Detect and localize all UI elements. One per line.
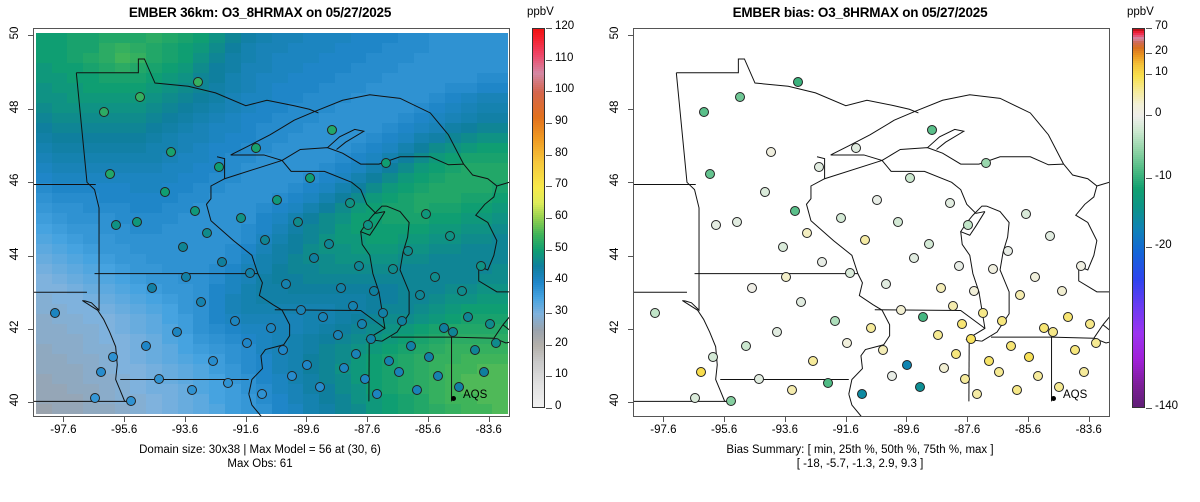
x-axis-tick [906,417,907,422]
x-axis-tick-label: -89.6 [881,424,931,436]
y-axis-tick [628,109,633,110]
aqs-legend-marker-model [451,396,456,401]
station-dot [1063,312,1073,322]
station-dot [1003,246,1013,256]
y-axis-tick-label: 46 [609,165,621,195]
y-axis-tick-label: 42 [609,312,621,342]
station-dot [90,393,100,403]
station-dot [887,371,897,381]
station-dot [384,356,394,366]
colorbar-tick [1146,53,1152,54]
station-dot [257,389,267,399]
station-dot [893,217,903,227]
station-dot [851,143,861,153]
station-dot [345,198,355,208]
x-axis-tick-label: -89.6 [281,424,331,436]
station-dot [845,268,855,278]
station-dot [242,338,252,348]
station-dot [860,235,870,245]
station-dot [936,283,946,293]
map-plot-bias: AQS [633,28,1110,417]
station-dot [957,319,967,329]
station-dot [354,261,364,271]
colorbar-bias-bar [1132,28,1145,408]
station-dot [141,341,151,351]
y-axis-tick-label: 40 [9,385,21,415]
map-plot-model: AQS [33,28,510,417]
station-dot [196,297,206,307]
colorbar-tick-label: 70 [1155,20,1168,32]
y-axis-tick [28,329,33,330]
station-dot [190,206,200,216]
colorbar-tick-label: 0 [1155,107,1161,119]
station-dot [105,169,115,179]
station-dot [366,334,376,344]
x-axis-tick [724,417,725,422]
station-dot [909,253,919,263]
y-axis-tick [628,182,633,183]
colorbar-tick [546,345,552,346]
station-dot [830,316,840,326]
x-axis-tick-label: -87.6 [342,424,392,436]
colorbar-tick [546,408,552,409]
station-dot [1091,338,1101,348]
station-dot [699,107,709,117]
station-dot [236,213,246,223]
x-axis-tick-label: -97.6 [38,424,88,436]
station-dot [690,393,700,403]
station-dot [187,385,197,395]
station-dot [1076,261,1086,271]
y-axis-tick-label: 44 [9,239,21,269]
station-dot [50,308,60,318]
station-dot [403,246,413,256]
colorbar-tick [546,28,552,29]
station-dot [1079,367,1089,377]
station-dot [415,290,425,300]
x-axis-tick [124,417,125,422]
bias-caption-line1: Bias Summary: [ min, 25th %, 50th %, 75t… [600,443,1120,457]
station-dot [793,77,803,87]
colorbar-tick [546,281,552,282]
station-dot [147,283,157,293]
x-axis-tick [367,417,368,422]
station-dot [287,371,297,381]
station-dot [132,217,142,227]
station-dot [448,327,458,337]
station-dot [1030,272,1040,282]
station-dot [902,360,912,370]
colorbar-tick [546,186,552,187]
station-dot [1024,352,1034,362]
x-axis-tick [663,417,664,422]
station-dot [457,286,467,296]
station-dot [479,367,489,377]
station-dot [872,195,882,205]
station-dot [363,220,373,230]
station-dot [978,308,988,318]
station-dot [857,389,867,399]
station-dot [378,308,388,318]
station-dot [836,213,846,223]
station-dot [202,228,212,238]
station-dot [357,319,367,329]
station-dot [315,382,325,392]
y-axis-tick-label: 48 [609,92,621,122]
station-dot [981,158,991,168]
colorbar-tick-label: 30 [555,305,568,317]
figure-root: EMBER 36km: O3_8HRMAX on 05/27/2025 AQS … [0,0,1200,502]
station-dot [208,356,218,366]
station-dot [650,308,660,318]
station-dot [278,345,288,355]
y-axis-tick [628,329,633,330]
station-dot [705,169,715,179]
x-axis-tick-label: -83.6 [464,424,514,436]
station-dot [348,301,358,311]
colorbar-tick-label: 60 [555,210,568,222]
station-dot [960,374,970,384]
colorbar-tick [546,155,552,156]
station-dots-bias [634,29,1109,416]
colorbar-tick [1146,74,1152,75]
colorbar-tick [546,250,552,251]
station-dot [251,143,261,153]
aqs-legend-label-model: AQS [463,389,487,401]
station-dot [485,319,495,329]
colorbar-bias-unit: ppbV [1127,6,1154,18]
station-dot [817,257,827,267]
colorbar-model-bar [532,28,545,408]
station-dot [214,162,224,172]
station-dot [969,286,979,296]
colorbar-tick [546,91,552,92]
x-axis-tick [846,417,847,422]
station-dot [302,360,312,370]
station-dot [787,385,797,395]
colorbar-tick-label: 10 [1155,66,1168,78]
colorbar-tick [1146,408,1152,409]
station-dot [823,378,833,388]
station-dot [1033,371,1043,381]
x-axis-tick [967,417,968,422]
station-dot [726,396,736,406]
x-axis-tick-label: -95.6 [99,424,149,436]
station-dot [1012,385,1022,395]
station-dot [954,261,964,271]
station-dot [951,349,961,359]
station-dot [318,312,328,322]
station-dot [336,283,346,293]
station-dot [463,312,473,322]
station-dot [412,385,422,395]
colorbar-tick [546,313,552,314]
colorbar-tick-label: 100 [555,83,574,95]
y-axis-tick-label: 50 [9,18,21,48]
station-dot [369,286,379,296]
colorbar-tick [1146,247,1152,248]
colorbar-tick [546,60,552,61]
station-dot [223,378,233,388]
station-dot [939,363,949,373]
colorbar-tick-label: 90 [555,115,568,127]
station-dot [388,264,398,274]
colorbar-tick-label: 0 [555,400,561,412]
station-dot [172,327,182,337]
station-dot [732,217,742,227]
station-dot [324,239,334,249]
y-axis-tick-label: 42 [9,312,21,342]
station-dot [1045,231,1055,241]
y-axis-tick-label: 44 [609,239,621,269]
station-dot [972,389,982,399]
station-dot [96,367,106,377]
station-dot [293,217,303,227]
colorbar-tick-label: -20 [1155,239,1172,251]
station-dot [394,367,404,377]
station-dot [333,330,343,340]
station-dot [1085,319,1095,329]
y-axis-tick [28,402,33,403]
station-dot [1021,209,1031,219]
station-dot [814,162,824,172]
model-caption-line1: Domain size: 30x38 | Max Model = 56 at (… [0,443,520,457]
colorbar-tick-label: -10 [1155,170,1172,182]
station-dot [905,173,915,183]
station-dot [424,352,434,362]
station-dot [245,268,255,278]
station-dot [896,305,906,315]
station-dot [193,77,203,87]
x-axis-tick-label: -85.6 [403,424,453,436]
station-dot [778,242,788,252]
station-dot [963,220,973,230]
y-axis-tick [628,256,633,257]
station-dot [1070,345,1080,355]
panel-bias-title: EMBER bias: O3_8HRMAX on 05/27/2025 [600,5,1120,20]
colorbar-tick-label: 110 [555,52,573,64]
y-axis-tick [28,182,33,183]
colorbar-tick-label: 80 [555,147,568,159]
x-axis-tick [246,417,247,422]
colorbar-tick [546,376,552,377]
station-dot [915,382,925,392]
bias-caption-line2: [ -18, -5.7, -1.3, 2.9, 9.3 ] [600,457,1120,471]
y-axis-tick [28,256,33,257]
station-dot [741,341,751,351]
x-axis-tick-label: -87.6 [942,424,992,436]
station-dot [948,301,958,311]
station-dot [918,312,928,322]
station-dot [281,279,291,289]
x-axis-tick [63,417,64,422]
station-dot [696,367,706,377]
station-dot [260,235,270,245]
x-axis-tick-label: -97.6 [638,424,688,436]
station-dot [381,158,391,168]
station-dot [305,173,315,183]
station-dot [99,107,109,117]
x-axis-tick-label: -93.6 [160,424,210,436]
station-dot [984,356,994,366]
station-dot [296,305,306,315]
station-dot [802,228,812,238]
x-axis-tick [1089,417,1090,422]
station-dot [309,253,319,263]
station-dot [351,349,361,359]
panel-model-title: EMBER 36km: O3_8HRMAX on 05/27/2025 [0,5,520,20]
station-dot [160,187,170,197]
colorbar-tick-label: 50 [555,242,568,254]
station-dot [445,231,455,241]
y-axis-tick [28,109,33,110]
station-dot [266,323,276,333]
station-dot [735,92,745,102]
x-axis-tick [185,417,186,422]
station-dot [154,374,164,384]
colorbar-tick [1146,28,1152,29]
y-axis-tick [28,35,33,36]
station-dot [790,206,800,216]
station-dot [796,297,806,307]
panel-model: EMBER 36km: O3_8HRMAX on 05/27/2025 AQS … [0,0,600,502]
x-axis-tick [428,417,429,422]
colorbar-tick-label: 120 [555,20,574,32]
station-dot [1057,286,1067,296]
station-dot [406,341,416,351]
station-dot [360,374,370,384]
y-axis-tick [628,402,633,403]
x-axis-tick [785,417,786,422]
station-dots-model [34,29,509,416]
x-axis-tick-label: -83.6 [1064,424,1114,436]
station-dot [470,345,480,355]
model-caption-line2: Max Obs: 61 [0,457,520,471]
station-dot [178,242,188,252]
colorbar-tick [546,123,552,124]
station-dot [866,323,876,333]
station-dot [997,316,1007,326]
station-dot [927,125,937,135]
station-dot [135,92,145,102]
station-dot [924,239,934,249]
station-dot [881,279,891,289]
station-dot [1048,327,1058,337]
y-axis-tick-label: 40 [609,385,621,415]
x-axis-tick [306,417,307,422]
station-dot [430,272,440,282]
station-dot [421,209,431,219]
station-dot [711,220,721,230]
y-axis-tick-label: 48 [9,92,21,122]
station-dot [181,272,191,282]
station-dot [111,220,121,230]
station-dot [166,147,176,157]
y-axis-tick-label: 50 [609,18,621,48]
x-axis-tick-label: -91.6 [821,424,871,436]
y-axis-tick [628,35,633,36]
station-dot [327,125,337,135]
station-dot [933,330,943,340]
x-axis-tick [1028,417,1029,422]
station-dot [108,352,118,362]
station-dot [1015,290,1025,300]
x-axis-tick [489,417,490,422]
x-axis-tick-label: -93.6 [760,424,810,436]
colorbar-tick-label: 20 [1155,45,1168,57]
colorbar-tick-label: 70 [555,178,568,190]
station-dot [339,363,349,373]
colorbar-tick [546,218,552,219]
colorbar-tick-label: 10 [555,368,568,380]
station-dot [988,264,998,274]
x-axis-tick-label: -95.6 [699,424,749,436]
station-dot [760,187,770,197]
station-dot [372,389,382,399]
colorbar-tick-label: 20 [555,337,568,349]
station-dot [1006,341,1016,351]
colorbar-tick [1146,115,1152,116]
x-axis-tick-label: -91.6 [221,424,271,436]
colorbar-tick [1146,178,1152,179]
station-dot [808,356,818,366]
station-dot [126,396,136,406]
station-dot [272,195,282,205]
panel-bias: EMBER bias: O3_8HRMAX on 05/27/2025 AQS … [600,0,1200,502]
station-dot [230,316,240,326]
x-axis-tick-label: -85.6 [1003,424,1053,436]
aqs-legend-label-bias: AQS [1063,389,1087,401]
colorbar-tick-label: 40 [555,273,568,285]
station-dot [476,261,486,271]
colorbar-model-unit: ppbV [527,6,554,18]
station-dot [708,352,718,362]
station-dot [994,367,1004,377]
aqs-legend-marker-bias [1051,396,1056,401]
station-dot [966,334,976,344]
station-dot [491,338,501,348]
station-dot [433,371,443,381]
station-dot [945,198,955,208]
y-axis-tick-label: 46 [9,165,21,195]
station-dot [217,257,227,267]
station-dot [842,338,852,348]
station-dot [766,147,776,157]
station-dot [772,327,782,337]
station-dot [781,272,791,282]
station-dot [754,374,764,384]
station-dot [397,316,407,326]
station-dot [747,283,757,293]
colorbar-tick-label: -140 [1155,400,1178,412]
station-dot [878,345,888,355]
